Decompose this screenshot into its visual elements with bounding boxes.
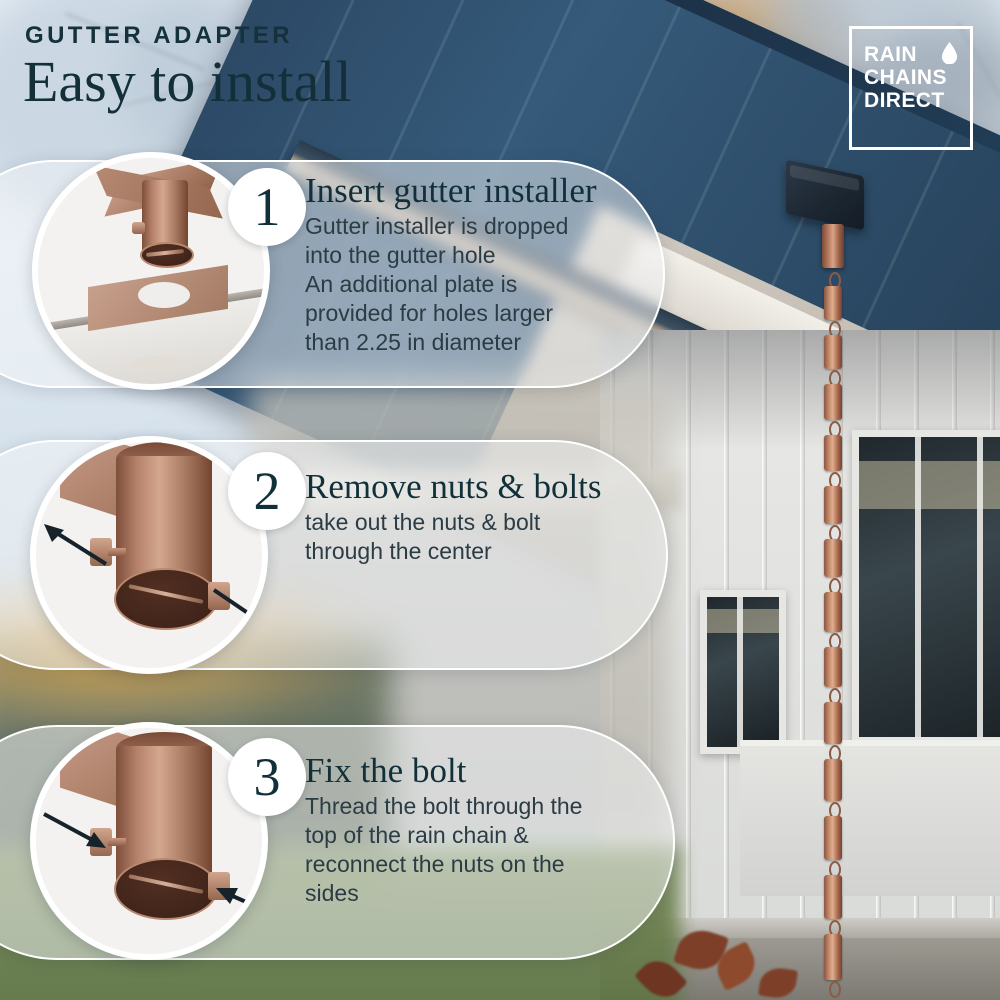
bolt-shank-left (108, 548, 126, 556)
arrow-inward-right (214, 878, 268, 918)
step-1-title: Insert gutter installer (305, 172, 675, 210)
step-2-body: take out the nuts & bolt through the cen… (305, 508, 675, 566)
brand-logo[interactable]: RAIN CHAINS DIRECT (849, 26, 973, 150)
arrow-outward-left (42, 522, 108, 566)
step-2-title: Remove nuts & bolts (305, 468, 675, 506)
step-3-text: Fix the bolt Thread the bolt through the… (305, 752, 680, 908)
step-1-text: Insert gutter installer Gutter installer… (305, 172, 675, 357)
arrow-inward-left (42, 812, 108, 852)
arrow-outward-right (212, 588, 268, 636)
window (852, 430, 1000, 744)
window (700, 590, 786, 754)
eyebrow-kicker: GUTTER ADAPTER (25, 22, 293, 50)
step-3-title: Fix the bolt (305, 752, 680, 790)
step-number-badge-2: 2 (228, 452, 306, 530)
logo-line-2: CHAINS (864, 66, 960, 89)
step-3-body: Thread the bolt through the top of the r… (305, 792, 680, 908)
ceiling-hole (130, 356, 190, 373)
step-2-text: Remove nuts & bolts take out the nuts & … (305, 468, 675, 566)
infographic-canvas: GUTTER ADAPTER Easy to install RAIN CHAI… (0, 0, 1000, 1000)
plate-hole (138, 282, 190, 308)
bolt-shank-left (108, 838, 126, 846)
wall-panel (740, 740, 1000, 896)
rain-chain (820, 232, 846, 992)
step-1-body: Gutter installer is dropped into the gut… (305, 212, 675, 357)
hex-nut (132, 222, 145, 234)
gutter-adapter-installed (822, 224, 844, 268)
step-number-badge-3: 3 (228, 738, 306, 816)
logo-line-3: DIRECT (864, 89, 960, 112)
water-drop-icon (941, 42, 958, 64)
step-number-badge-1: 1 (228, 168, 306, 246)
page-title: Easy to install (23, 52, 352, 111)
